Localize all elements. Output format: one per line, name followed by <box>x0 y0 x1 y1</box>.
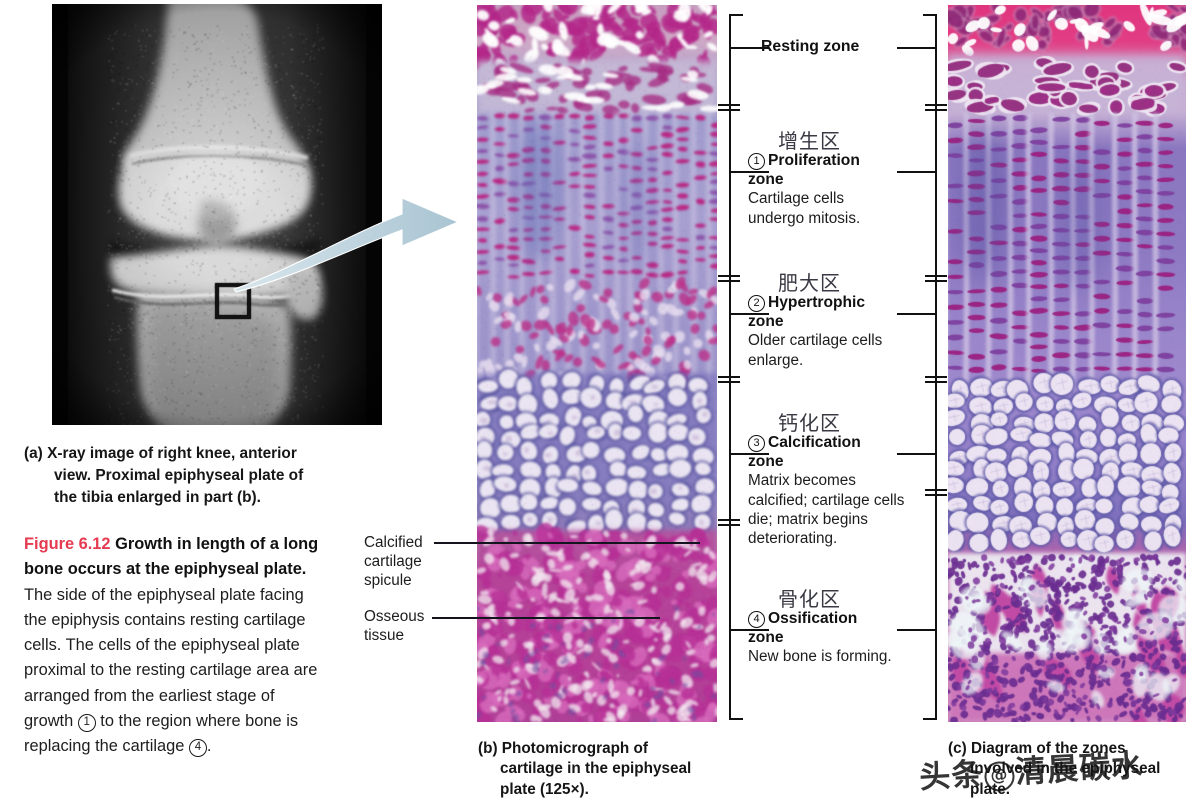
zone-resting-label: Resting zone <box>761 38 859 56</box>
zone-ossification-title2: zone <box>748 629 940 648</box>
panel-a-caption-line2: view. Proximal epiphyseal plate of <box>24 465 384 487</box>
zone-proliferation-desc: Cartilage cells undergo mitosis. <box>748 189 898 228</box>
watermark-left: 头条 <box>918 756 984 796</box>
zone-calcification-cn: 钙化区 <box>748 413 940 434</box>
panel-b-caption: (b) Photomicrograph of cartilage in the … <box>478 739 728 800</box>
zone-proliferation-title: 1Proliferation <box>748 152 940 171</box>
zone-proliferation-title-text: Proliferation <box>768 152 860 169</box>
figure-body-3: . <box>207 737 212 755</box>
zone-calcification-title2: zone <box>748 453 940 472</box>
watermark-at-icon: @ <box>984 761 1016 793</box>
bracket-b-tick-3b <box>718 381 740 383</box>
zone-ossification: 骨化区 4Ossification zone New bone is formi… <box>748 589 940 667</box>
calcified-spicule-leader-line <box>434 542 700 544</box>
figure-page: (a) X-ray image of right knee, anterior … <box>0 0 1194 812</box>
photomicrograph-panel <box>477 5 717 722</box>
xray-image-panel <box>52 4 382 425</box>
xray-canvas <box>52 4 382 425</box>
panel-a-caption-line1: (a) X-ray image of right knee, anterior <box>24 443 384 465</box>
bracket-b-tick-4b <box>718 524 740 526</box>
figure-marker-2: 4 <box>189 739 207 757</box>
panel-b-caption-line1: (b) Photomicrograph of <box>478 739 728 759</box>
zone-hypertrophic-desc: Older cartilage cells enlarge. <box>748 331 928 370</box>
bracket-b-spine <box>729 14 731 720</box>
zone-ossification-number: 4 <box>748 611 765 628</box>
zone-ossification-title-text: Ossification <box>768 610 857 627</box>
calcified-label-line2: cartilage <box>364 552 444 571</box>
osseous-tissue-leader-line <box>432 617 660 619</box>
osseous-tissue-label: Osseous tissue <box>364 607 444 645</box>
zone-calcification-desc: Matrix becomes calcified; cartilage cell… <box>748 471 914 548</box>
zone-hypertrophic: 肥大区 2Hypertrophic zone Older cartilage c… <box>748 273 940 370</box>
zone-hypertrophic-title: 2Hypertrophic <box>748 294 940 313</box>
zone-label-column: Resting zone 增生区 1Proliferation zone Car… <box>748 0 938 730</box>
figure-number: Figure 6.12 <box>24 535 111 553</box>
bracket-b-tick-1 <box>718 104 740 106</box>
zone-proliferation-number: 1 <box>748 153 765 170</box>
zone-calcification-title: 3Calcification <box>748 434 940 453</box>
calcified-cartilage-spicule-label: Calcified cartilage spicule <box>364 533 444 590</box>
zone-hypertrophic-title2: zone <box>748 313 940 332</box>
panel-a-caption: (a) X-ray image of right knee, anterior … <box>24 443 384 509</box>
figure-body-1: The side of the epiphyseal plate facing … <box>24 586 317 730</box>
bracket-b-tick-1b <box>718 109 740 111</box>
zone-proliferation-cn: 增生区 <box>748 131 940 152</box>
figure-description: Figure 6.12 Growth in length of a long b… <box>24 532 324 759</box>
zone-hypertrophic-number: 2 <box>748 295 765 312</box>
zone-ossification-desc: New bone is forming. <box>748 647 938 666</box>
diagram-canvas <box>948 5 1186 722</box>
bracket-b-tick-2b <box>718 280 740 282</box>
zone-ossification-cn: 骨化区 <box>748 589 940 610</box>
panel-b-caption-line3: plate (125×). <box>478 780 728 800</box>
photomicrograph-canvas <box>477 5 717 722</box>
diagram-panel <box>948 5 1186 722</box>
watermark-right: 清晨碳水 <box>1014 747 1144 790</box>
figure-marker-1: 1 <box>78 714 96 732</box>
panel-b-caption-line2: cartilage in the epiphyseal <box>478 759 728 779</box>
zone-hypertrophic-title-text: Hypertrophic <box>768 294 865 311</box>
calcified-label-line1: Calcified <box>364 533 444 552</box>
panel-a-caption-line3: the tibia enlarged in part (b). <box>24 487 384 509</box>
osseous-label-line2: tissue <box>364 626 444 645</box>
zone-calcification-title-text: Calcification <box>768 434 861 451</box>
zone-calcification-number: 3 <box>748 435 765 452</box>
zone-calcification: 钙化区 3Calcification zone Matrix becomes c… <box>748 413 940 548</box>
calcified-label-line3: spicule <box>364 571 444 590</box>
zone-ossification-title: 4Ossification <box>748 610 940 629</box>
zone-hypertrophic-cn: 肥大区 <box>748 273 940 294</box>
zone-proliferation-title2: zone <box>748 171 940 190</box>
bracket-b-tick-4 <box>718 519 740 521</box>
bracket-b-tick-2 <box>718 275 740 277</box>
zone-proliferation: 增生区 1Proliferation zone Cartilage cells … <box>748 131 940 228</box>
bracket-b-bottom-cap <box>729 718 743 720</box>
osseous-label-line1: Osseous <box>364 607 444 626</box>
bracket-b-tick-3 <box>718 376 740 378</box>
bracket-b-top-cap <box>729 14 743 16</box>
